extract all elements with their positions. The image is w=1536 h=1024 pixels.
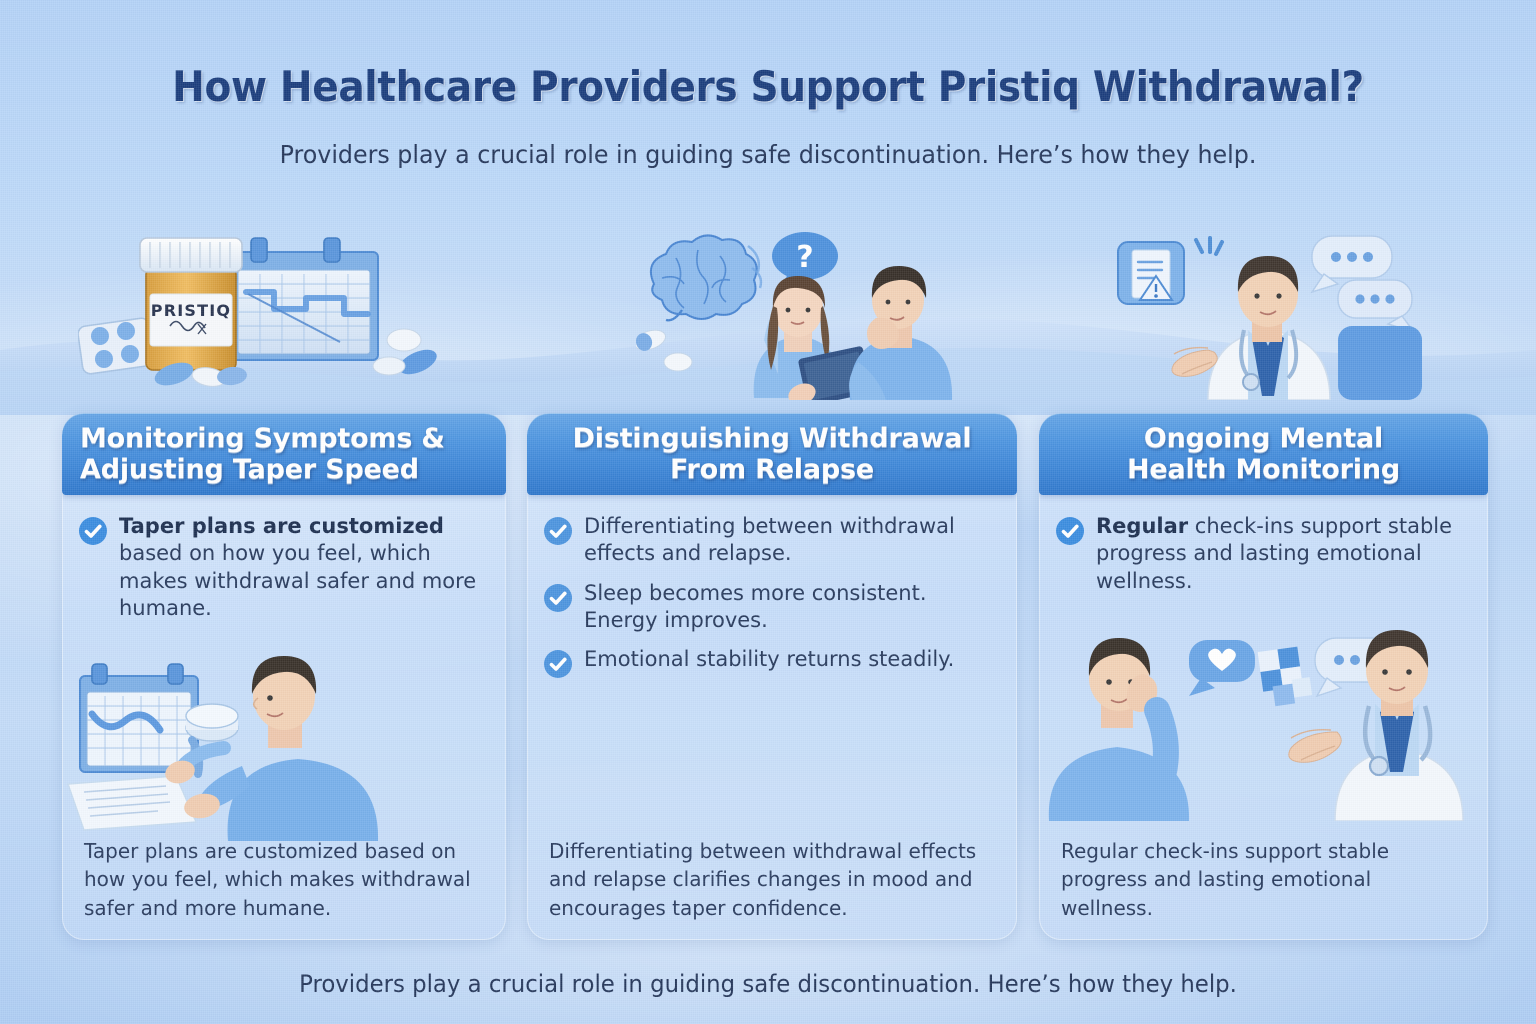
card-footnote: Taper plans are customized based on how … (62, 837, 506, 922)
bullet-rest-text: based on how you feel, which makes withd… (119, 541, 476, 620)
bullet-list: Taper plans are customized based on how … (62, 495, 506, 622)
card-title: Ongoing Mental Health Monitoring (1127, 423, 1400, 486)
card-monitoring-symptoms[interactable]: Monitoring Symptoms & Adjusting Taper Sp… (62, 413, 506, 940)
chat-bubbles-icon (1312, 236, 1414, 332)
bullet-text: Differentiating between withdrawal effec… (584, 513, 999, 568)
brain-icon (651, 235, 761, 320)
card-title-line-1: Distinguishing Withdrawal (573, 423, 972, 454)
card-title-line-2: Health Monitoring (1127, 454, 1400, 485)
paper-document-icon (68, 776, 196, 830)
check-circle-icon (78, 516, 108, 546)
doctor-with-report-and-chat-bubbles-illustration (1112, 222, 1452, 400)
report-alert-icon (1118, 238, 1222, 304)
bullet-text: Taper plans are customized based on how … (119, 513, 488, 622)
brain-and-couple-discussion-illustration: ? (636, 222, 986, 400)
bullet-text: Emotional stability returns steadily. (584, 646, 954, 673)
card-title: Monitoring Symptoms & Adjusting Taper Sp… (80, 423, 445, 486)
question-mark-text: ? (796, 240, 813, 275)
card-footnote: Regular check-ins support stable progres… (1039, 837, 1488, 922)
list-item: Sleep becomes more consistent. Energy im… (543, 580, 999, 635)
patient-and-doctor-check-in-illustration (1039, 626, 1488, 821)
card-ongoing-mental-health-monitoring[interactable]: Ongoing Mental Health Monitoring Regular… (1039, 413, 1488, 940)
bullet-bold-text: Taper plans are customized (119, 514, 444, 538)
card-header: Monitoring Symptoms & Adjusting Taper Sp… (62, 413, 506, 495)
card-title-line-2: Adjusting Taper Speed (80, 454, 419, 485)
list-item: Regular check-ins support stable progres… (1055, 513, 1470, 595)
man-reviewing-taper-calendar-illustration (62, 656, 506, 841)
card-title: Distinguishing Withdrawal From Relapse (573, 423, 972, 486)
bottle-label-text: PRISTIQ (151, 301, 231, 320)
infographic-page: How Healthcare Providers Support Pristiq… (0, 0, 1536, 1024)
bullet-bold-text: Regular (1096, 514, 1188, 538)
bullet-text: Regular check-ins support stable progres… (1096, 513, 1470, 595)
hero-illustration-band: PRISTIQ (0, 200, 1536, 415)
heart-speech-bubble-icon (1189, 640, 1255, 696)
card-header: Distinguishing Withdrawal From Relapse (527, 413, 1017, 495)
checker-motif-icon (1258, 645, 1313, 707)
bullet-list: Differentiating between withdrawal effec… (527, 495, 1017, 679)
check-circle-icon (1055, 516, 1085, 546)
man-figure (849, 266, 952, 400)
doctor-figure (1172, 256, 1330, 400)
card-footnote: Differentiating between withdrawal effec… (527, 837, 1017, 922)
page-title: How Healthcare Providers Support Pristiq… (54, 62, 1482, 111)
pill-bottle-and-taper-calendar-illustration: PRISTIQ (78, 214, 488, 399)
blister-pack-icon (78, 317, 155, 375)
list-item: Taper plans are customized based on how … (78, 513, 488, 622)
check-circle-icon (543, 583, 573, 613)
pristiq-pill-bottle-icon: PRISTIQ (140, 238, 242, 370)
card-header: Ongoing Mental Health Monitoring (1039, 413, 1488, 495)
taper-calendar-icon (230, 238, 378, 360)
check-circle-icon (543, 649, 573, 679)
card-distinguishing-withdrawal[interactable]: Distinguishing Withdrawal From Relapse D… (527, 413, 1017, 940)
card-title-line-1: Ongoing Mental (1144, 423, 1383, 454)
bullet-list: Regular check-ins support stable progres… (1039, 495, 1488, 595)
card-title-line-1: Monitoring Symptoms & (80, 423, 445, 454)
bullet-text: Sleep becomes more consistent. Energy im… (584, 580, 999, 635)
taper-calendar-icon (80, 664, 198, 772)
page-subtitle: Providers play a crucial role in guiding… (38, 140, 1497, 169)
list-item: Emotional stability returns steadily. (543, 646, 999, 679)
loose-pills-icon (636, 326, 692, 371)
card-title-line-2: From Relapse (670, 454, 874, 485)
footer-note: Providers play a crucial role in guiding… (38, 970, 1497, 998)
check-circle-icon (543, 516, 573, 546)
patient-figure (1049, 638, 1189, 821)
list-item: Differentiating between withdrawal effec… (543, 513, 999, 568)
